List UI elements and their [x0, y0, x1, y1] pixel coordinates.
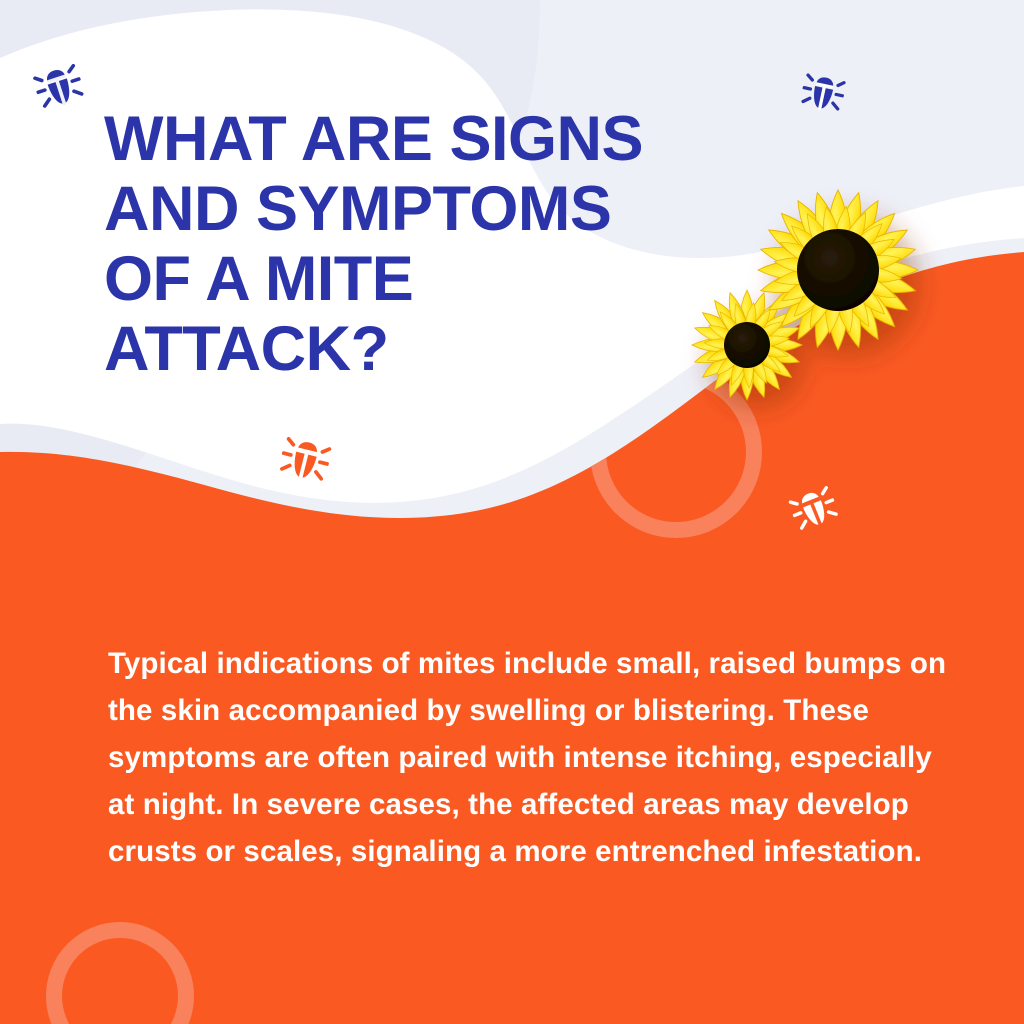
- body-paragraph: Typical indications of mites include sma…: [108, 640, 953, 875]
- sunflower-large: [758, 190, 918, 350]
- poster-canvas: WHAT ARE SIGNS AND SYMPTOMS OF A MITE AT…: [0, 0, 1024, 1024]
- mite-bug-icon: [798, 68, 848, 118]
- flower-center: [797, 229, 879, 311]
- page-title: WHAT ARE SIGNS AND SYMPTOMS OF A MITE AT…: [104, 104, 744, 384]
